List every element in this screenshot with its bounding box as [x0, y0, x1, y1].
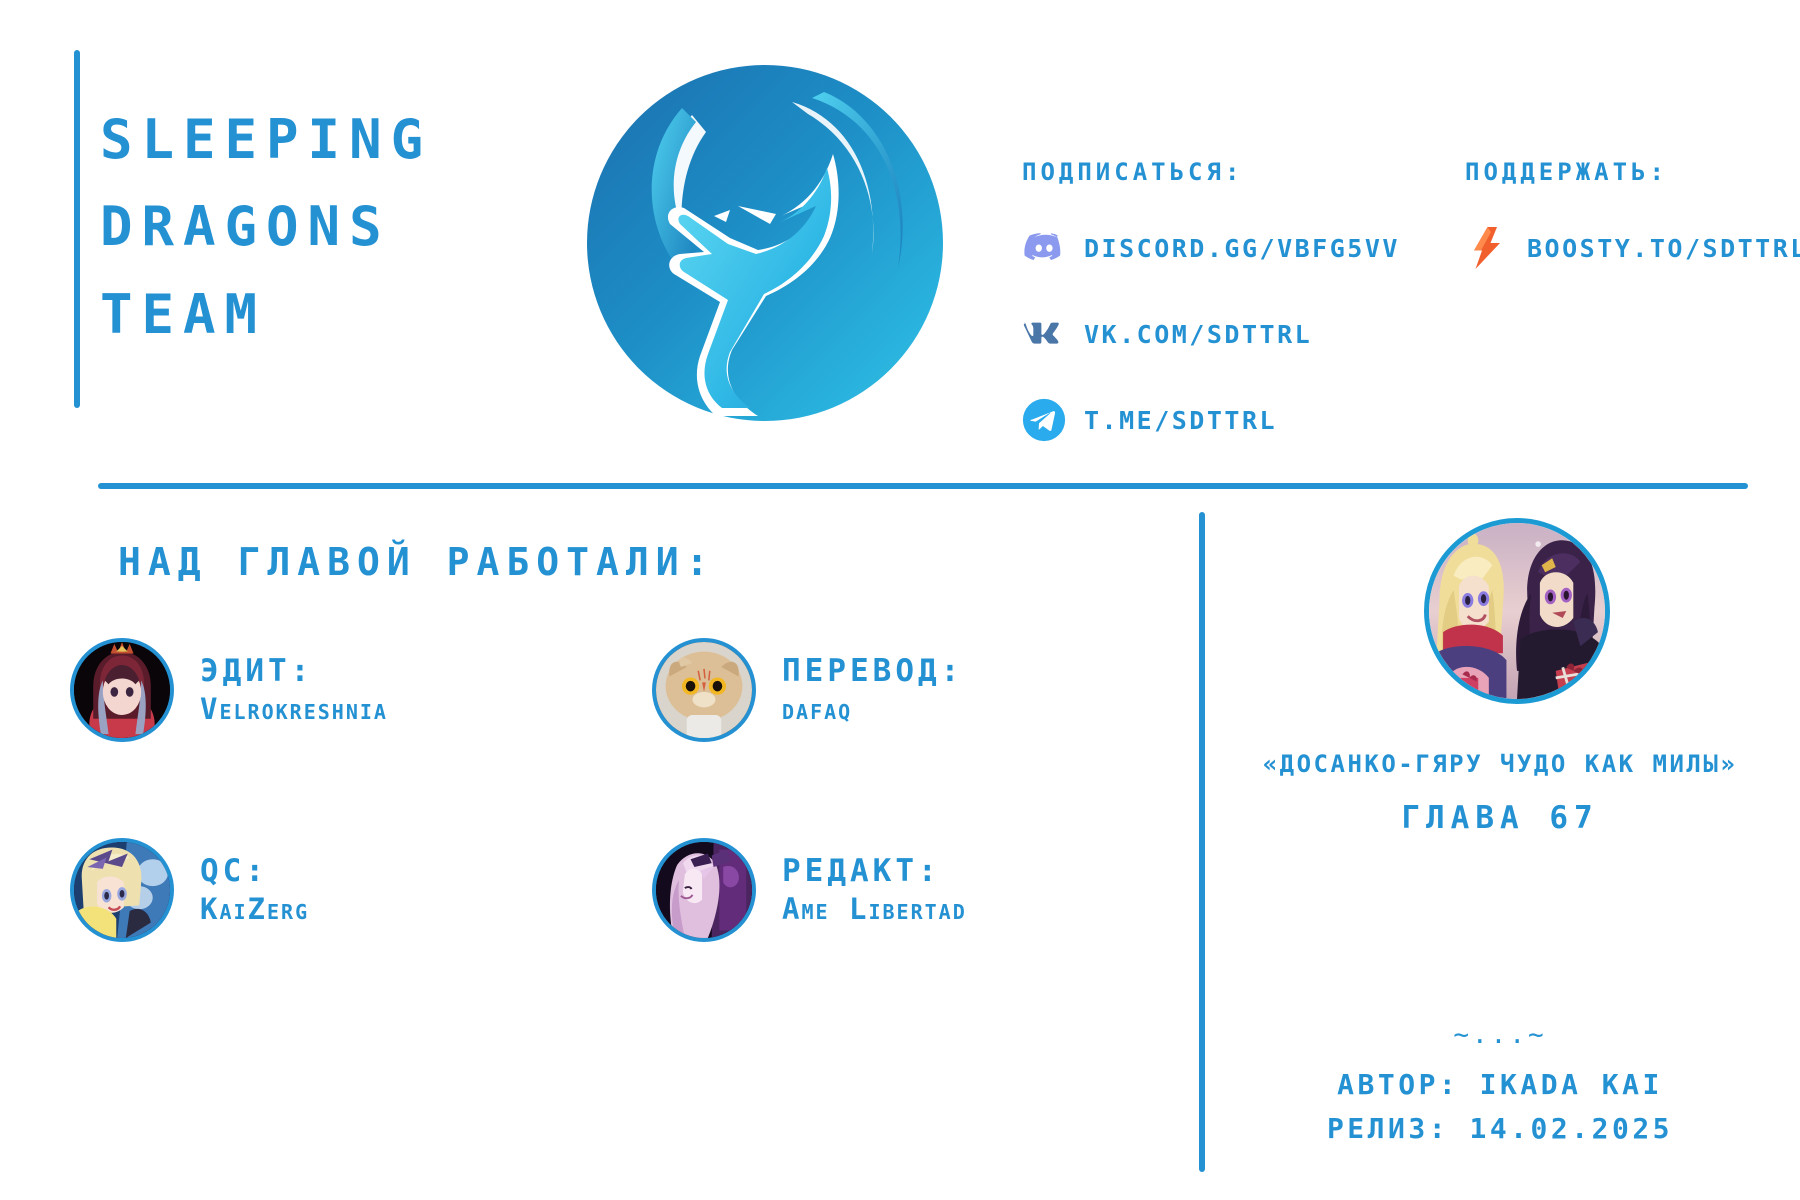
subscribe-column: ПОДПИСАТЬСЯ: DISCORD.GG/VBFG5VV VK.COM/S… — [1022, 158, 1400, 484]
team-title-line-1: SLEEPING — [100, 96, 520, 183]
avatar-ame-libertad — [652, 838, 756, 942]
discord-link-label: DISCORD.GG/VBFG5VV — [1084, 234, 1400, 263]
credit-role-editor: РЕДАКТ: — [782, 852, 967, 892]
telegram-link[interactable]: T.ME/SDTTRL — [1022, 398, 1400, 442]
squiggle-separator: ~...~ — [1210, 1020, 1790, 1050]
right-panel-divider — [1199, 512, 1205, 1172]
section-divider — [98, 483, 1748, 489]
credit-role-qc: QC: — [200, 852, 309, 892]
avatar-dafaq — [652, 638, 756, 742]
team-title: SLEEPING DRAGONS TEAM — [100, 96, 520, 358]
manga-chapter: ГЛАВА 67 — [1210, 800, 1790, 836]
support-heading: ПОДДЕРЖАТЬ: — [1465, 158, 1800, 186]
credit-name-edit: Velrokreshnia — [200, 691, 388, 728]
manga-cover-thumbnail — [1424, 518, 1610, 704]
credits-heading: НАД ГЛАВОЙ РАБОТАЛИ: — [118, 540, 716, 584]
avatar-velrokreshnia — [70, 638, 174, 742]
release-date: РЕЛИЗ: 14.02.2025 — [1210, 1112, 1790, 1145]
credit-entry-qc: QC: KaiZerg — [70, 838, 309, 942]
telegram-icon — [1022, 398, 1066, 442]
credit-name-qc: KaiZerg — [200, 891, 309, 928]
team-title-line-3: TEAM — [100, 271, 520, 358]
dragon-head-logo — [580, 58, 950, 428]
manga-title: «ДОСАНКО-ГЯРУ ЧУДО КАК МИЛЫ» — [1210, 750, 1790, 778]
boosty-icon — [1465, 226, 1509, 270]
credit-entry-edit: ЭДИТ: Velrokreshnia — [70, 638, 388, 742]
vk-link[interactable]: VK.COM/SDTTRL — [1022, 312, 1400, 356]
manga-author: АВТОР: IKADA KAI — [1210, 1068, 1790, 1101]
boosty-link-label: BOOSTY.TO/SDTTRL — [1527, 234, 1800, 263]
vk-link-label: VK.COM/SDTTRL — [1084, 320, 1312, 349]
avatar-kaizerg — [70, 838, 174, 942]
discord-icon — [1022, 226, 1066, 270]
title-accent-bar — [74, 50, 80, 408]
credit-role-translation: ПЕРЕВОД: — [782, 652, 963, 692]
support-column: ПОДДЕРЖАТЬ: BOOSTY.TO/SDTTRL — [1465, 158, 1800, 312]
telegram-link-label: T.ME/SDTTRL — [1084, 406, 1277, 435]
discord-link[interactable]: DISCORD.GG/VBFG5VV — [1022, 226, 1400, 270]
credit-entry-translation: ПЕРЕВОД: dafaq — [652, 638, 963, 742]
credit-role-edit: ЭДИТ: — [200, 652, 388, 692]
subscribe-heading: ПОДПИСАТЬСЯ: — [1022, 158, 1400, 186]
vk-icon — [1022, 312, 1066, 356]
boosty-link[interactable]: BOOSTY.TO/SDTTRL — [1465, 226, 1800, 270]
credit-entry-editor: РЕДАКТ: Ame Libertad — [652, 838, 967, 942]
team-title-line-2: DRAGONS — [100, 183, 520, 270]
credit-name-editor: Ame Libertad — [782, 891, 967, 928]
credit-name-translation: dafaq — [782, 691, 963, 728]
credits-page: SLEEPING DRAGONS TEAM — [0, 0, 1800, 1200]
